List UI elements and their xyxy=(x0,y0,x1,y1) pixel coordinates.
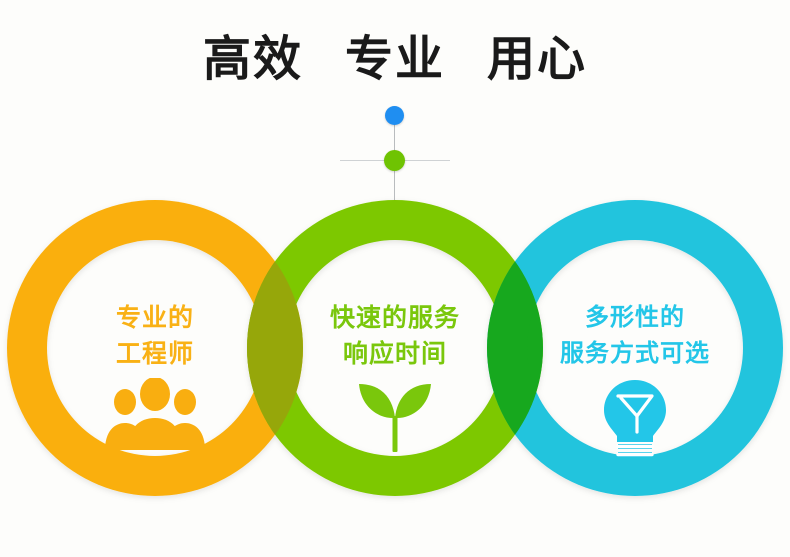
poster-canvas: 高效专业用心 xyxy=(0,0,790,557)
venn-rings xyxy=(0,0,790,557)
